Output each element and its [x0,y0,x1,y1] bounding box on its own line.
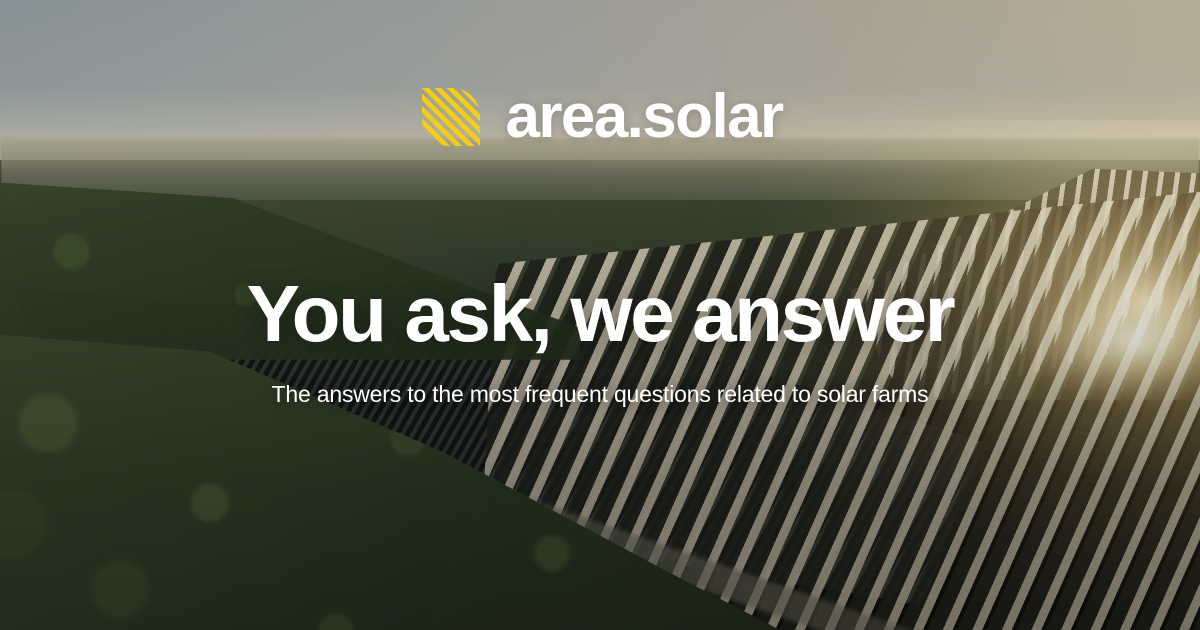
og-banner: area.solar You ask, we answer The answer… [0,0,1200,630]
brand-wordmark: area.solar [506,86,783,148]
striped-leaf-logo-icon [418,84,484,150]
page-title: You ask, we answer [247,274,954,354]
brand-lockup: area.solar [418,84,783,150]
banner-content: area.solar You ask, we answer The answer… [0,0,1200,630]
page-subtitle: The answers to the most frequent questio… [272,380,929,409]
